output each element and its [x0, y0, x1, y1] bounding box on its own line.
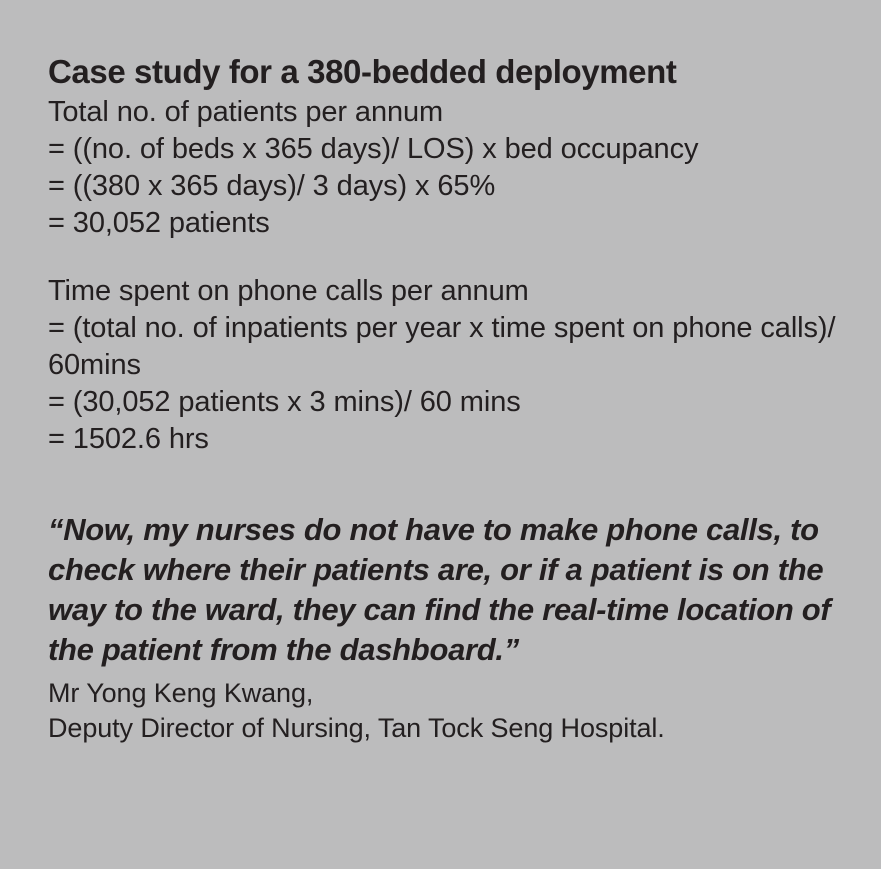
- calculation-block-patients: Total no. of patients per annum = ((no. …: [48, 94, 841, 242]
- block-spacer: [48, 242, 841, 273]
- calculation-line: Total no. of patients per annum: [48, 94, 841, 131]
- quote-spacer: [48, 458, 841, 510]
- attribution-role: Deputy Director of Nursing, Tan Tock Sen…: [48, 711, 841, 746]
- page-title: Case study for a 380-bedded deployment: [48, 52, 841, 92]
- pull-quote: “Now, my nurses do not have to make phon…: [48, 510, 841, 670]
- attribution-name: Mr Yong Keng Kwang,: [48, 676, 841, 711]
- calculation-line: Time spent on phone calls per annum: [48, 273, 841, 310]
- calculation-line: = (total no. of inpatients per year x ti…: [48, 310, 841, 384]
- calculation-line: = ((no. of beds x 365 days)/ LOS) x bed …: [48, 131, 841, 168]
- calculation-line: = ((380 x 365 days)/ 3 days) x 65%: [48, 168, 841, 205]
- case-study-panel: Case study for a 380-bedded deployment T…: [0, 0, 881, 869]
- calculation-line: = 30,052 patients: [48, 205, 841, 242]
- calculation-line: = 1502.6 hrs: [48, 421, 841, 458]
- quote-attribution: Mr Yong Keng Kwang, Deputy Director of N…: [48, 676, 841, 746]
- calculation-line: = (30,052 patients x 3 mins)/ 60 mins: [48, 384, 841, 421]
- calculation-block-phone-time: Time spent on phone calls per annum = (t…: [48, 273, 841, 458]
